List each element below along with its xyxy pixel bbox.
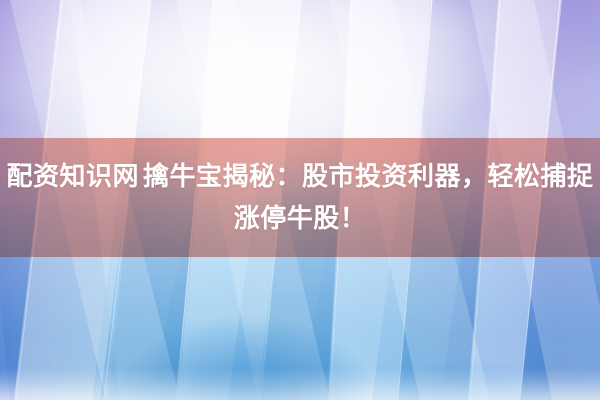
site-brand-name: 配资知识网 (6, 162, 139, 192)
headline-line-2: 涨停牛股！ (234, 199, 367, 239)
headline-line-1-text: 擒牛宝揭秘：股市投资利器，轻松捕捉 (143, 162, 594, 192)
banner-image: 配资知识网擒牛宝揭秘：股市投资利器，轻松捕捉 涨停牛股！ (0, 0, 600, 400)
headline-line-1: 配资知识网擒牛宝揭秘：股市投资利器，轻松捕捉 (6, 157, 593, 197)
headline-text-block: 配资知识网擒牛宝揭秘：股市投资利器，轻松捕捉 涨停牛股！ (0, 138, 600, 257)
